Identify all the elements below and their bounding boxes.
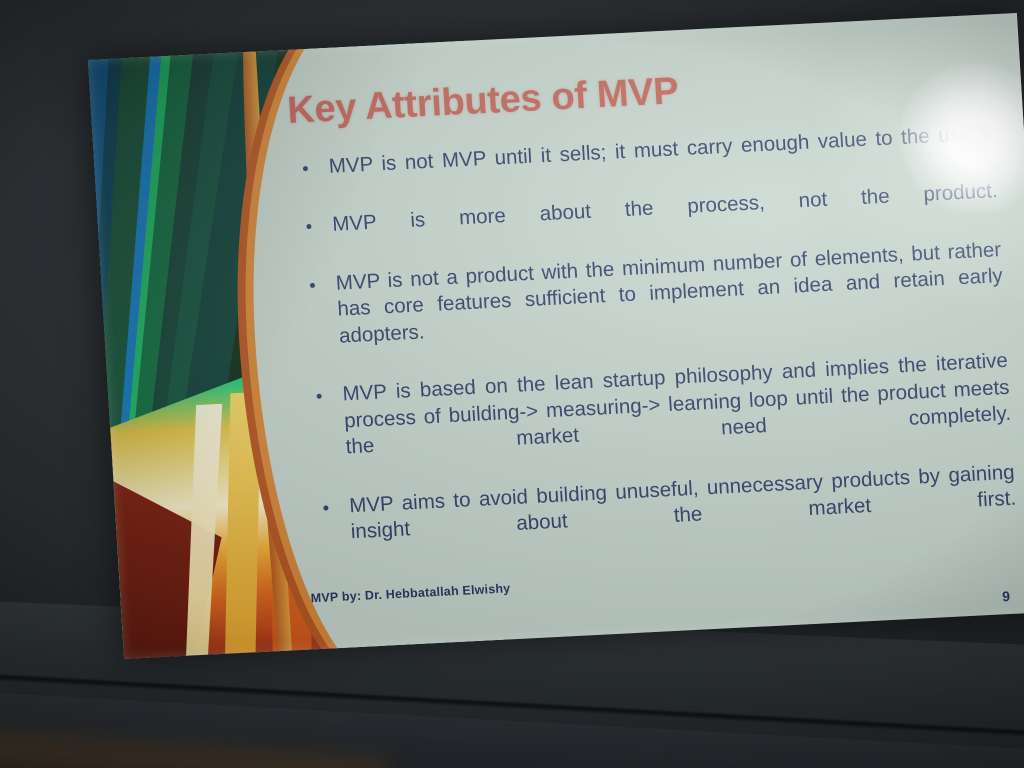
slide-surface: Key Attributes of MVP MVP is not MVP unt… (88, 13, 1024, 659)
bullet-dot-icon (323, 505, 328, 510)
photo-scene: Key Attributes of MVP MVP is not MVP unt… (0, 0, 1024, 768)
bullet-dot-icon (310, 282, 315, 287)
bullet-dot-icon (317, 394, 322, 399)
bullet-dot-icon (303, 166, 308, 171)
bullet-dot-icon (306, 224, 311, 229)
bullet-text: MVP is not MVP until it sells; it must c… (328, 121, 995, 178)
projected-slide: Key Attributes of MVP MVP is not MVP unt… (88, 13, 1024, 659)
bullet-list: MVP is not MVP until it sells; it must c… (292, 120, 1019, 579)
slide-content: Key Attributes of MVP MVP is not MVP unt… (284, 14, 1024, 649)
slide-title: Key Attributes of MVP (286, 70, 679, 133)
slide-page-number: 9 (1002, 588, 1011, 604)
